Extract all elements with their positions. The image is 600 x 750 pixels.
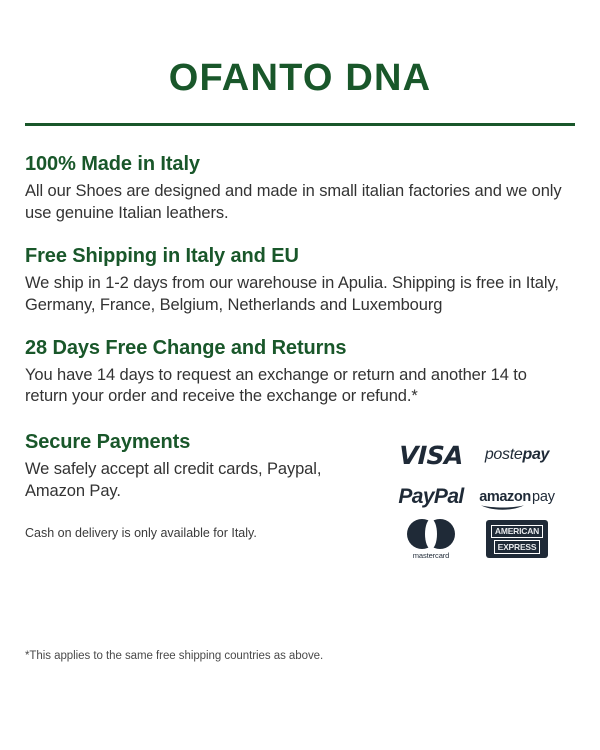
section-heading: 100% Made in Italy	[25, 152, 575, 177]
section-secure-payments: Secure Payments We safely accept all cre…	[25, 430, 575, 541]
mastercard-overlap	[425, 519, 437, 549]
section-body: All our Shoes are designed and made in s…	[25, 181, 570, 225]
payment-logo-row: mastercard AMERICAN EXPRESS	[388, 520, 563, 558]
page-title: OFANTO DNA	[25, 0, 575, 100]
payment-logo-row: VISA postepay	[388, 436, 563, 474]
paypal-icon: PayPal	[398, 485, 463, 509]
mastercard-logo-cell: mastercard	[388, 520, 474, 558]
postepay-icon: postepay	[485, 446, 549, 464]
mastercard-circles	[407, 519, 455, 549]
section-free-returns: 28 Days Free Change and Returns You have…	[25, 336, 575, 409]
mastercard-label: mastercard	[413, 551, 450, 560]
payment-logo-row: PayPal amazon pay	[388, 478, 563, 516]
ofanto-dna-info-panel: OFANTO DNA 100% Made in Italy All our Sh…	[0, 0, 600, 750]
postepay-label-bold: pay	[522, 446, 549, 463]
amex-label-bottom: EXPRESS	[494, 540, 541, 554]
postepay-label-light: poste	[485, 446, 523, 463]
american-express-logo-cell: AMERICAN EXPRESS	[474, 520, 560, 558]
paypal-logo-cell: PayPal	[388, 478, 474, 516]
section-body: We safely accept all credit cards, Paypa…	[25, 459, 365, 503]
amazon-pay-label: pay	[532, 489, 555, 505]
section-made-in-italy: 100% Made in Italy All our Shoes are des…	[25, 152, 575, 225]
section-body: You have 14 days to request an exchange …	[25, 365, 570, 409]
mastercard-icon: mastercard	[407, 519, 455, 560]
payments-text-block: Secure Payments We safely accept all cre…	[25, 430, 395, 541]
payment-logos: VISA postepay PayPal amazon pay	[388, 436, 563, 562]
section-free-shipping: Free Shipping in Italy and EU We ship in…	[25, 244, 575, 317]
amazon-pay-icon: amazon pay	[479, 490, 555, 505]
section-heading: 28 Days Free Change and Returns	[25, 336, 575, 361]
section-heading: Secure Payments	[25, 430, 395, 455]
postepay-logo-cell: postepay	[474, 436, 560, 474]
amazon-swoosh-icon	[480, 504, 526, 511]
section-heading: Free Shipping in Italy and EU	[25, 244, 575, 269]
visa-icon: VISA	[398, 441, 463, 470]
visa-logo-cell: VISA	[388, 436, 474, 474]
section-body: We ship in 1-2 days from our warehouse i…	[25, 273, 570, 317]
amex-label-top: AMERICAN	[491, 525, 543, 539]
american-express-icon: AMERICAN EXPRESS	[486, 520, 548, 558]
cash-on-delivery-note: Cash on delivery is only available for I…	[25, 525, 395, 541]
title-divider	[25, 123, 575, 126]
footnote: *This applies to the same free shipping …	[25, 650, 323, 662]
info-sections: 100% Made in Italy All our Shoes are des…	[25, 152, 575, 542]
amazon-pay-logo-cell: amazon pay	[474, 478, 560, 516]
